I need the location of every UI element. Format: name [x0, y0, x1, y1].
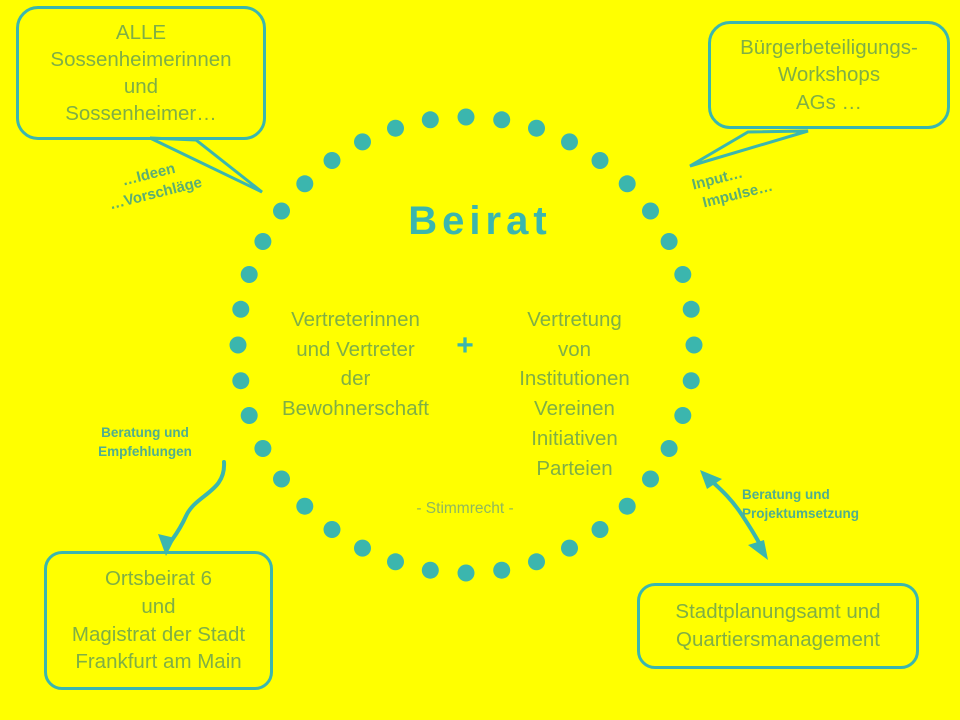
ring-dot: [324, 521, 341, 538]
plus-icon: +: [443, 305, 487, 368]
speech-bubble-residents: ALLE Sossenheimerinnen und Sossenheimer…: [16, 6, 266, 140]
center-left-column: Vertreterinnen und Vertreter der Bewohne…: [268, 305, 443, 424]
ring-dot: [683, 301, 700, 318]
ring-dot: [561, 540, 578, 557]
center-columns: Vertreterinnen und Vertreter der Bewohne…: [250, 305, 680, 483]
ring-dot: [493, 562, 510, 579]
ring-dot: [296, 175, 313, 192]
ring-dot: [528, 553, 545, 570]
curved-arrow-down-icon: [158, 462, 224, 556]
ring-dot: [354, 133, 371, 150]
ring-dot: [458, 565, 475, 582]
ring-dot: [232, 301, 249, 318]
ring-dot: [686, 337, 703, 354]
ring-dot: [561, 133, 578, 150]
stimmrecht-footnote: - Stimmrecht -: [330, 500, 600, 518]
speech-bubble-workshops: Bürgerbeteiligungs- Workshops AGs …: [708, 21, 950, 129]
ring-dot: [387, 120, 404, 137]
ring-dot: [528, 120, 545, 137]
ring-dot: [230, 337, 247, 354]
ring-dot: [458, 109, 475, 126]
ring-dot: [619, 498, 636, 515]
ring-dot: [387, 553, 404, 570]
ring-dot: [422, 562, 439, 579]
ring-dot: [422, 111, 439, 128]
ring-dot: [324, 152, 341, 169]
ring-dot: [683, 372, 700, 389]
ring-dot: [493, 111, 510, 128]
box-ortsbeirat-magistrat: Ortsbeirat 6 und Magistrat der Stadt Fra…: [44, 551, 273, 690]
center-right-column: Vertretung von Institutionen Vereinen In…: [487, 305, 662, 483]
ring-dot: [241, 266, 258, 283]
ring-dot: [619, 175, 636, 192]
ring-dot: [592, 152, 609, 169]
ring-dot: [232, 372, 249, 389]
ring-dot: [674, 266, 691, 283]
ring-dot: [354, 540, 371, 557]
label-beratung-und-empfehlungen: Beratung und Empfehlungen: [75, 424, 215, 462]
ring-dot: [592, 521, 609, 538]
box-stadtplanungsamt-quartiersmanagement: Stadtplanungsamt und Quartiersmanagement: [637, 583, 919, 669]
diagram-canvas: Beirat Vertreterinnen und Vertreter der …: [0, 0, 960, 720]
label-beratung-und-projektumsetzung: Beratung und Projektumsetzung: [742, 486, 917, 524]
ring-dot: [296, 498, 313, 515]
